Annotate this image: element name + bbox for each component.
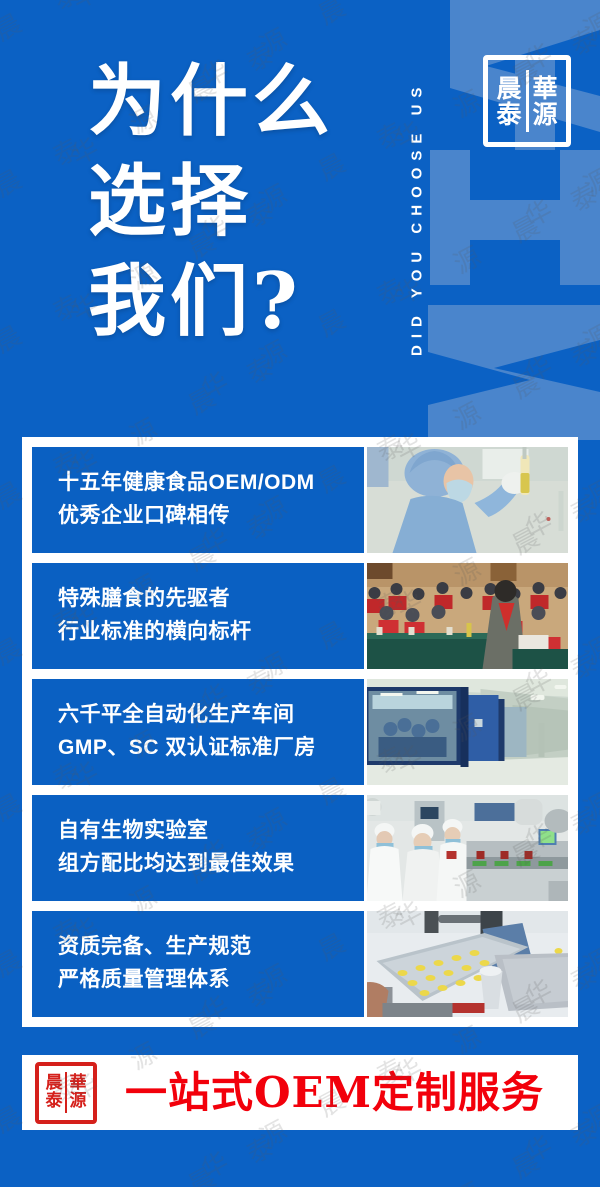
title-line-3: 我们? <box>88 252 378 352</box>
lab-technician-photo <box>367 447 568 553</box>
seal-left-column: 晨 泰 <box>42 1069 66 1117</box>
feature-card-1: 十五年健康食品OEM/ODM 优秀企业口碑相传 <box>32 447 364 553</box>
feature-card-4: 自有生物实验室 组方配比均达到最佳效果 <box>32 795 364 901</box>
feature-4-line-1: 自有生物实验室 <box>58 815 364 848</box>
seal-right-column: 華 源 <box>66 1069 90 1117</box>
feature-4-line-2: 组方配比均达到最佳效果 <box>58 848 364 881</box>
feature-list-panel: 十五年健康食品OEM/ODM 优秀企业口碑相传 <box>22 437 578 1027</box>
feature-2-line-2: 行业标准的横向标杆 <box>58 616 364 649</box>
seal-right-column: 華 源 <box>527 63 563 139</box>
seal-glyph-yuan: 源 <box>70 1093 87 1110</box>
production-line-workers-photo <box>367 795 568 901</box>
feature-1-line-2: 优秀企业口碑相传 <box>58 500 364 533</box>
feature-row: 十五年健康食品OEM/ODM 优秀企业口碑相传 <box>32 447 568 553</box>
banner-slogan: 一站式OEM定制服务 <box>97 1072 578 1114</box>
company-seal-top: 晨 泰 華 源 <box>483 55 571 147</box>
feature-row: 资质完备、生产规范 严格质量管理体系 <box>32 911 568 1017</box>
cleanroom-corridor-photo <box>367 679 568 785</box>
seal-glyph-hua: 華 <box>532 76 557 101</box>
bottom-banner: 晨 泰 華 源 一站式OEM定制服务 <box>22 1055 578 1130</box>
poster-root: 为什么 选择 我们? DID YOU CHOOSE US 晨 泰 華 源 十五年… <box>0 0 600 1187</box>
conference-audience-photo <box>367 563 568 669</box>
feature-3-line-1: 六千平全自动化生产车间 <box>58 699 364 732</box>
seal-glyph-tai: 泰 <box>496 102 521 127</box>
feature-1-line-1: 十五年健康食品OEM/ODM <box>58 467 364 500</box>
page-title: 为什么 选择 我们? <box>88 52 378 351</box>
title-line-2: 选择 <box>88 152 378 252</box>
seal-glyph-chen: 晨 <box>496 76 521 101</box>
feature-5-line-2: 严格质量管理体系 <box>58 964 364 997</box>
feature-5-line-1: 资质完备、生产规范 <box>58 931 364 964</box>
seal-glyph-yuan: 源 <box>532 102 557 127</box>
title-line-1: 为什么 <box>88 52 378 152</box>
feature-card-5: 资质完备、生产规范 严格质量管理体系 <box>32 911 364 1017</box>
feature-card-3: 六千平全自动化生产车间 GMP、SC 双认证标准厂房 <box>32 679 364 785</box>
seal-glyph-hua: 華 <box>70 1075 87 1092</box>
feature-3-line-2: GMP、SC 双认证标准厂房 <box>58 732 364 765</box>
feature-2-line-1: 特殊膳食的先驱者 <box>58 583 364 616</box>
blister-packing-machine-photo <box>367 911 568 1017</box>
seal-glyph-tai: 泰 <box>46 1093 63 1110</box>
feature-row: 六千平全自动化生产车间 GMP、SC 双认证标准厂房 <box>32 679 568 785</box>
feature-row: 特殊膳食的先驱者 行业标准的横向标杆 <box>32 563 568 669</box>
company-seal-bottom: 晨 泰 華 源 <box>35 1062 97 1124</box>
seal-glyph-chen: 晨 <box>46 1075 63 1092</box>
seal-left-column: 晨 泰 <box>491 63 527 139</box>
feature-card-2: 特殊膳食的先驱者 行业标准的横向标杆 <box>32 563 364 669</box>
vertical-english-subtitle: DID YOU CHOOSE US <box>400 18 434 418</box>
feature-row: 自有生物实验室 组方配比均达到最佳效果 <box>32 795 568 901</box>
